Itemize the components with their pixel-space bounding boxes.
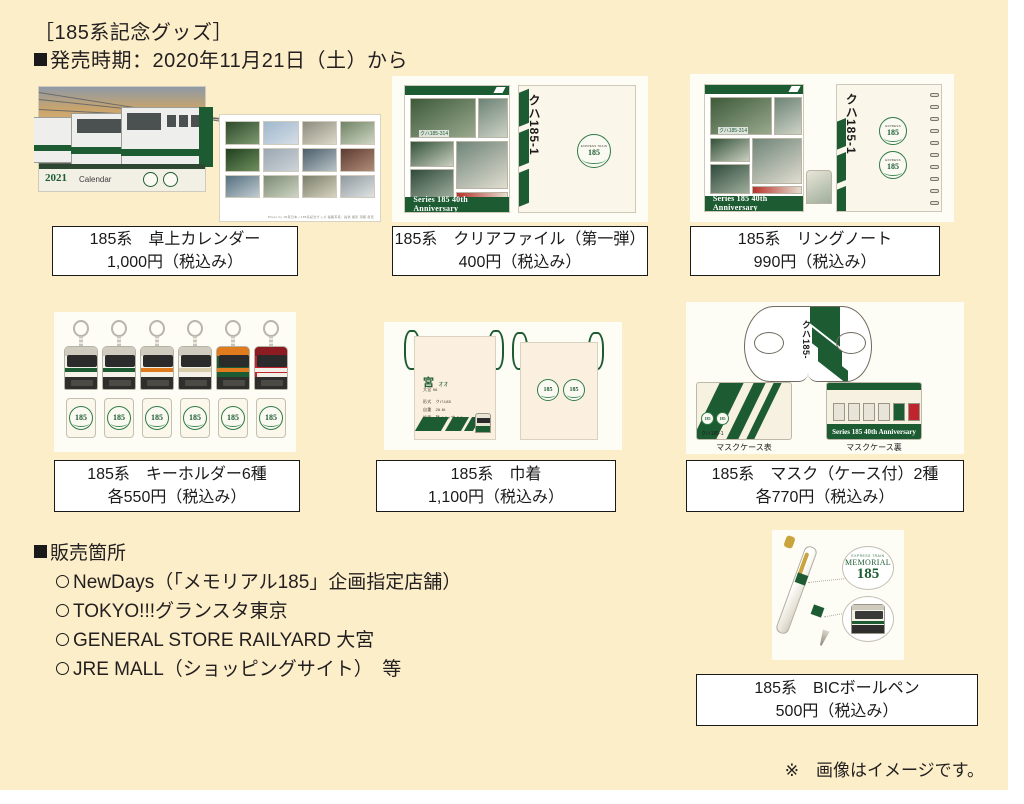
product-image-kinchaku: 宮 オオ 大宮 96 形式 クハ185 自重 26.6t 換算 積 4.0 / … — [384, 322, 622, 450]
kinchaku-front: 宮 オオ 大宮 96 形式 クハ185 自重 26.6t 換算 積 4.0 / … — [414, 336, 496, 440]
keyring-icon — [111, 320, 127, 337]
sales-heading: 販売箇所 — [34, 540, 461, 569]
green-stripe — [518, 129, 529, 169]
keyholder-back: 185 — [256, 398, 286, 438]
page-title: ［185系記念グッズ］ — [34, 16, 233, 45]
train-window — [179, 115, 188, 127]
calendar-photo — [302, 175, 337, 199]
destination-board-photo — [752, 186, 802, 194]
sales-item-label: NewDays（「メモリアル185」企画指定店舗） — [73, 572, 461, 593]
pen-train-callout — [842, 596, 894, 642]
train-end-panel — [199, 107, 213, 167]
caption-desk-calendar: 185系 卓上カレンダー 1,000円（税込み） — [52, 226, 298, 276]
product-image-ballpen: EXPRESS TRAIN MEMORIAL 185 — [772, 530, 904, 660]
hollow-circle-bullet-icon — [56, 662, 69, 675]
spiral-ring-icon — [930, 105, 939, 109]
cab-photo — [710, 164, 750, 194]
keyholder-back: 185 — [180, 398, 210, 438]
calendar-photo-grid: Photo by JR東日本 / 185系記念グッズ 掲載写真：提供 撮影 須藤… — [219, 114, 381, 222]
caption-kinchaku: 185系 巾着 1,100円（税込み） — [376, 460, 616, 512]
train-face — [254, 346, 288, 390]
keyring-icon — [225, 320, 241, 337]
face-mask-graphic: クハ185- — [744, 306, 872, 382]
release-date-text: 発売時期：2020年11月21日（土）から — [50, 50, 408, 72]
car-number-tag: クハ185-314 — [718, 127, 748, 134]
spiral-ring-icon — [930, 189, 939, 193]
anniversary-banner: Series 185 40th Anniversary — [827, 424, 921, 439]
product-image-clear-file: クハ185-314 Series 185 40th Anniversary クハ… — [392, 76, 648, 222]
list-item: JRE MALL（ショッピングサイト） 等 — [34, 656, 461, 685]
green-stripe — [518, 169, 529, 209]
pen-barrel — [775, 545, 819, 636]
train-face — [178, 346, 212, 390]
train-stripe — [121, 149, 213, 156]
pen-tip — [817, 629, 829, 646]
train-window — [167, 115, 176, 127]
train-photo — [774, 97, 802, 135]
green-top-bar — [705, 85, 803, 94]
emblem-185-icon: 185 — [701, 412, 714, 425]
keyring-icon — [187, 320, 203, 337]
depot-line: 大宮 96 — [423, 387, 438, 393]
callout-line — [808, 578, 846, 583]
front-view-photo — [456, 141, 508, 189]
train-cab-window — [127, 113, 161, 130]
mask-contour — [754, 332, 784, 354]
ringnote-cover-side: クハ185-1 EXPRESS 185 EXPRESS 185 — [836, 84, 942, 212]
sales-item-label: GENERAL STORE RAILYARD 大宮 — [73, 630, 374, 651]
spiral-ring-icon — [930, 129, 939, 133]
keyholder-back: 185 — [66, 398, 96, 438]
spiral-ring-icon — [930, 201, 939, 205]
sales-item-label: TOKYO!!!グランスタ東京 — [73, 601, 288, 622]
train-face — [64, 346, 98, 390]
emblem-185-icon: EXPRESS 185 — [879, 151, 907, 179]
train-window — [77, 119, 127, 133]
spiral-ring-icon — [930, 93, 939, 97]
calendar-photo — [302, 148, 337, 172]
keyholder-back: 185 — [142, 398, 172, 438]
keyring-icon — [149, 320, 165, 337]
calendar-word: Calendar — [79, 175, 111, 184]
emblem-icon — [163, 172, 178, 187]
emblem-185-icon: 185 — [183, 406, 207, 430]
anniversary-banner: Series 185 40th Anniversary — [705, 196, 803, 211]
product-image-desk-calendar: 2021 Calendar Photo by JR東日本 — [34, 78, 390, 222]
emblem-number: 185 — [720, 417, 726, 421]
front-view-photo — [752, 138, 802, 184]
spec-row: 自重 26.6t — [423, 407, 446, 413]
train-face — [102, 346, 136, 390]
product-name: 185系 リングノート — [738, 228, 892, 251]
emblem-icon — [143, 172, 158, 187]
green-stripe — [836, 152, 846, 186]
hollow-circle-bullet-icon — [56, 633, 69, 646]
mask-contour — [836, 332, 866, 354]
calendar-photo — [263, 148, 298, 172]
product-price: 各770円（税込み） — [756, 486, 895, 509]
clearfile-cover-side: クハ185-1 EXPRESS TRAIN 185 — [518, 85, 636, 213]
calendar-photo — [340, 175, 375, 199]
green-stripe — [415, 417, 449, 431]
spiral-ring-icon — [930, 165, 939, 169]
route-map-photo — [410, 141, 454, 167]
emblem-185-icon: 185 — [563, 379, 585, 401]
green-stripe — [518, 89, 529, 129]
train-photo — [478, 98, 508, 138]
keyholder-back: 185 — [218, 398, 248, 438]
train-face — [140, 346, 174, 390]
product-image-ring-note: クハ185-314 Series 185 40th Anniversary クハ… — [690, 74, 954, 222]
car-number-tag: クハ185-314 — [419, 130, 449, 137]
emblem-185-icon: 185 — [69, 406, 93, 430]
emblem-185-icon: 185 — [259, 406, 283, 430]
keyring-icon — [263, 320, 279, 337]
emblem-number: 185 — [705, 417, 711, 421]
depot-sub: オオ — [438, 382, 448, 388]
poster-page: ［185系記念グッズ］ 発売時期：2020年11月21日（土）から — [0, 0, 1008, 790]
mask-case-back: Series 185 40th Anniversary — [826, 382, 922, 440]
green-top-bar — [405, 86, 509, 95]
calendar-title-band: 2021 Calendar — [39, 169, 205, 191]
anniversary-banner: Series 185 40th Anniversary — [405, 197, 509, 212]
product-image-mask: クハ185- 185 185 クハ185-1 マスクケース表 Series 18… — [686, 302, 964, 454]
spec-row: 形式 クハ185 — [423, 399, 451, 405]
emblem-185-icon: 185 — [221, 406, 245, 430]
case-front-car-text: クハ185-1 — [701, 430, 724, 437]
clearfile-artwork-side: クハ185-314 Series 185 40th Anniversary — [404, 85, 510, 213]
product-name: 185系 巾着 — [451, 463, 542, 486]
product-price: 1,000円（税込み） — [107, 251, 243, 274]
mask-case-front: 185 185 クハ185-1 — [696, 382, 792, 440]
calendar-photo — [225, 175, 260, 199]
image-disclaimer-note: ※ 画像はイメージです。 — [785, 756, 984, 781]
spiral-ring-icon — [930, 177, 939, 181]
calendar-photo — [225, 148, 260, 172]
train-face-print — [475, 413, 491, 433]
product-name: 185系 クリアファイル（第一弾） — [395, 228, 646, 251]
caption-mask: 185系 マスク（ケース付）2種 各770円（税込み） — [686, 460, 964, 512]
green-stripe — [836, 186, 846, 212]
spiral-ring-icon — [930, 141, 939, 145]
ringnote-artwork-side: クハ185-314 Series 185 40th Anniversary — [704, 84, 804, 212]
list-item: NewDays（「メモリアル185」企画指定店舗） — [34, 569, 461, 598]
filled-square-bullet-icon — [34, 545, 47, 558]
product-name: 185系 マスク（ケース付）2種 — [712, 463, 939, 486]
release-date-line: 発売時期：2020年11月21日（土）から — [34, 44, 408, 73]
list-item: GENERAL STORE RAILYARD 大宮 — [34, 627, 461, 656]
calendar-front-photo: 2021 Calendar — [38, 86, 206, 192]
filled-square-bullet-icon — [34, 53, 47, 66]
mask-case-back-label: マスクケース裏 — [826, 442, 922, 453]
mask-case-front-label: マスクケース表 — [696, 442, 792, 453]
product-name: 185系 卓上カレンダー — [90, 228, 261, 251]
mask-car-text: クハ185- — [800, 320, 813, 359]
product-price: 400円（税込み） — [459, 251, 582, 274]
pen-green-accent — [811, 604, 825, 617]
product-price: 各550円（税込み） — [108, 486, 247, 509]
calendar-photo — [340, 148, 375, 172]
sales-locations-section: 販売箇所 NewDays（「メモリアル185」企画指定店舗） TOKYO!!!グ… — [34, 540, 461, 684]
product-name: 185系 BICボールペン — [754, 677, 919, 700]
calendar-photo — [302, 121, 337, 145]
train-face — [216, 346, 250, 390]
calendar-photo — [263, 175, 298, 199]
calendar-credit: Photo by JR東日本 / 185系記念グッズ 掲載写真：提供 撮影 須藤… — [268, 215, 374, 219]
hollow-circle-bullet-icon — [56, 575, 69, 588]
keyholder-back: 185 — [104, 398, 134, 438]
sales-heading-text: 販売箇所 — [50, 543, 126, 564]
emblem-185-icon: EXPRESS 185 — [879, 117, 907, 145]
product-price: 990円（税込み） — [754, 251, 877, 274]
product-image-key-holder: 185 185 185 — [54, 312, 296, 452]
emblem-185-icon: 185 — [716, 412, 729, 425]
emblem-185-icon: 185 — [145, 406, 169, 430]
pen-logo-callout: EXPRESS TRAIN MEMORIAL 185 — [842, 546, 894, 590]
spiral-ring-icon — [930, 117, 939, 121]
emblem-185-icon: EXPRESS TRAIN 185 — [577, 134, 611, 168]
sales-item-label: JRE MALL（ショッピングサイト） 等 — [73, 659, 401, 680]
kinchaku-back: 185 185 — [520, 342, 598, 440]
calendar-photo — [340, 121, 375, 145]
product-price: 1,100円（税込み） — [428, 486, 564, 509]
calendar-year: 2021 — [45, 172, 67, 184]
caption-ballpen: 185系 BICボールペン 500円（税込み） — [696, 674, 978, 726]
caption-clear-file: 185系 クリアファイル（第一弾） 400円（税込み） — [392, 226, 648, 276]
caption-ring-note: 185系 リングノート 990円（税込み） — [690, 226, 940, 276]
keyring-icon — [73, 320, 89, 337]
calendar-photo — [263, 121, 298, 145]
product-name: 185系 キーホルダー6種 — [87, 463, 267, 486]
train-face-photo — [806, 170, 832, 204]
emblem-185-icon: 185 — [537, 379, 559, 401]
list-item: TOKYO!!!グランスタ東京 — [34, 598, 461, 627]
spiral-ring-icon — [930, 153, 939, 157]
pen-knock — [783, 535, 796, 549]
emblem-185-icon: 185 — [107, 406, 131, 430]
calendar-photo — [225, 121, 260, 145]
product-price: 500円（税込み） — [776, 700, 899, 723]
hollow-circle-bullet-icon — [56, 604, 69, 617]
logo-number: 185 — [857, 567, 880, 582]
caption-key-holder: 185系 キーホルダー6種 各550円（税込み） — [54, 460, 300, 512]
route-map-photo — [710, 138, 750, 162]
sales-list: NewDays（「メモリアル185」企画指定店舗） TOKYO!!!グランスタ東… — [34, 569, 461, 685]
